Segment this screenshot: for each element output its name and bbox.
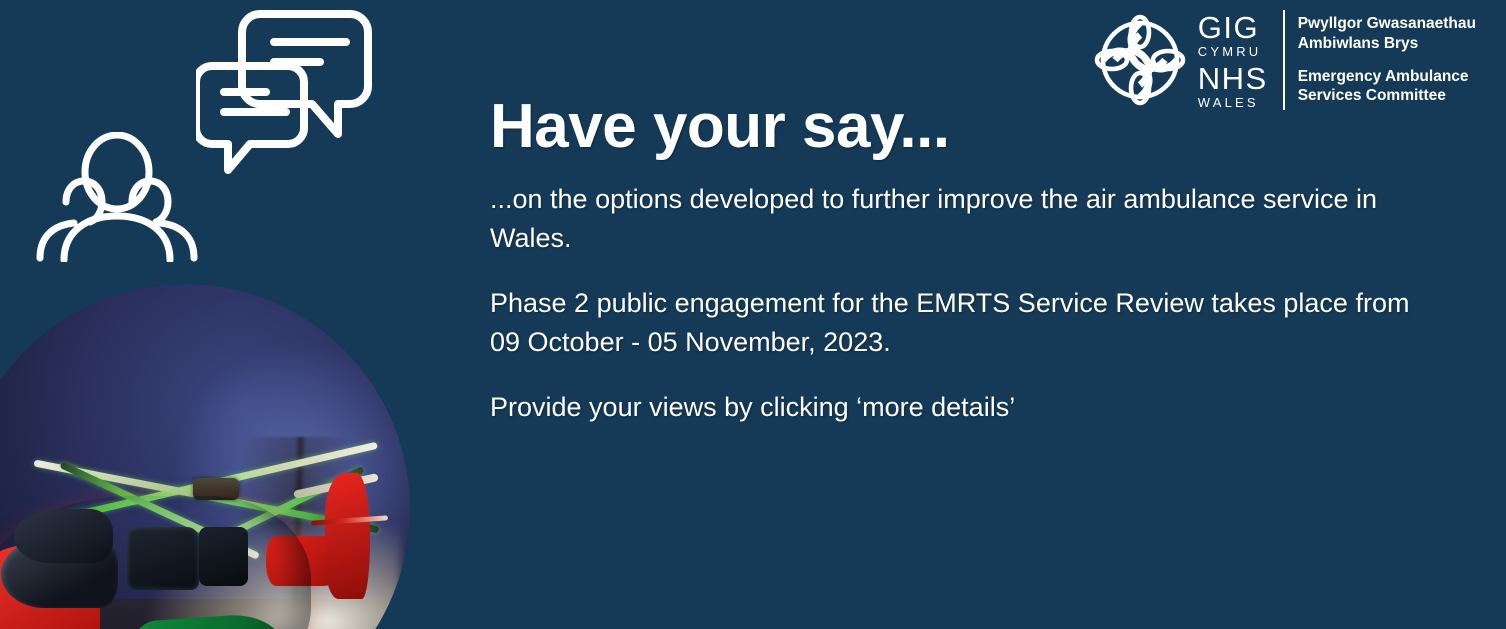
- gig-word: GIG: [1198, 12, 1268, 43]
- people-group-icon: [34, 132, 200, 262]
- cockpit-window: [14, 509, 113, 563]
- helicopter-photo: [0, 284, 410, 629]
- have-your-say-banner: Have your say... ...on the options devel…: [0, 0, 1506, 629]
- nhs-word: NHS: [1198, 63, 1268, 94]
- english-name-line-2: Services Committee: [1298, 86, 1476, 105]
- tail-fin: [325, 473, 370, 599]
- english-name-line-1: Emergency Ambulance: [1298, 67, 1476, 86]
- celtic-knot-icon: [1088, 8, 1192, 112]
- door-window: [199, 527, 249, 586]
- cabin-window: [127, 527, 199, 590]
- wales-word: WALES: [1198, 96, 1268, 109]
- speech-bubbles-icon: [196, 4, 372, 176]
- welsh-organisation-name: Pwyllgor Gwasanaethau Ambiwlans Brys: [1298, 14, 1476, 53]
- content-column: Have your say... ...on the options devel…: [490, 96, 1450, 426]
- welsh-name-line-2: Ambiwlans Brys: [1298, 34, 1476, 53]
- call-to-action-paragraph: Provide your views by clicking ‘more det…: [490, 388, 1445, 427]
- logo-divider: [1283, 10, 1285, 110]
- english-organisation-name: Emergency Ambulance Services Committee: [1298, 67, 1476, 106]
- helicopter-illustration: [0, 284, 410, 629]
- nhs-wales-easc-logo: GIG CYMRU NHS WALES Pwyllgor Gwasanaetha…: [1088, 8, 1476, 112]
- logo-organisation-name: Pwyllgor Gwasanaethau Ambiwlans Brys Eme…: [1298, 8, 1476, 112]
- logo-wordmark: GIG CYMRU NHS WALES: [1198, 12, 1268, 109]
- intro-paragraph: ...on the options developed to further i…: [490, 180, 1445, 258]
- engagement-dates-paragraph: Phase 2 public engagement for the EMRTS …: [490, 284, 1445, 362]
- cymru-word: CYMRU: [1198, 45, 1268, 58]
- welsh-name-line-1: Pwyllgor Gwasanaethau: [1298, 14, 1476, 33]
